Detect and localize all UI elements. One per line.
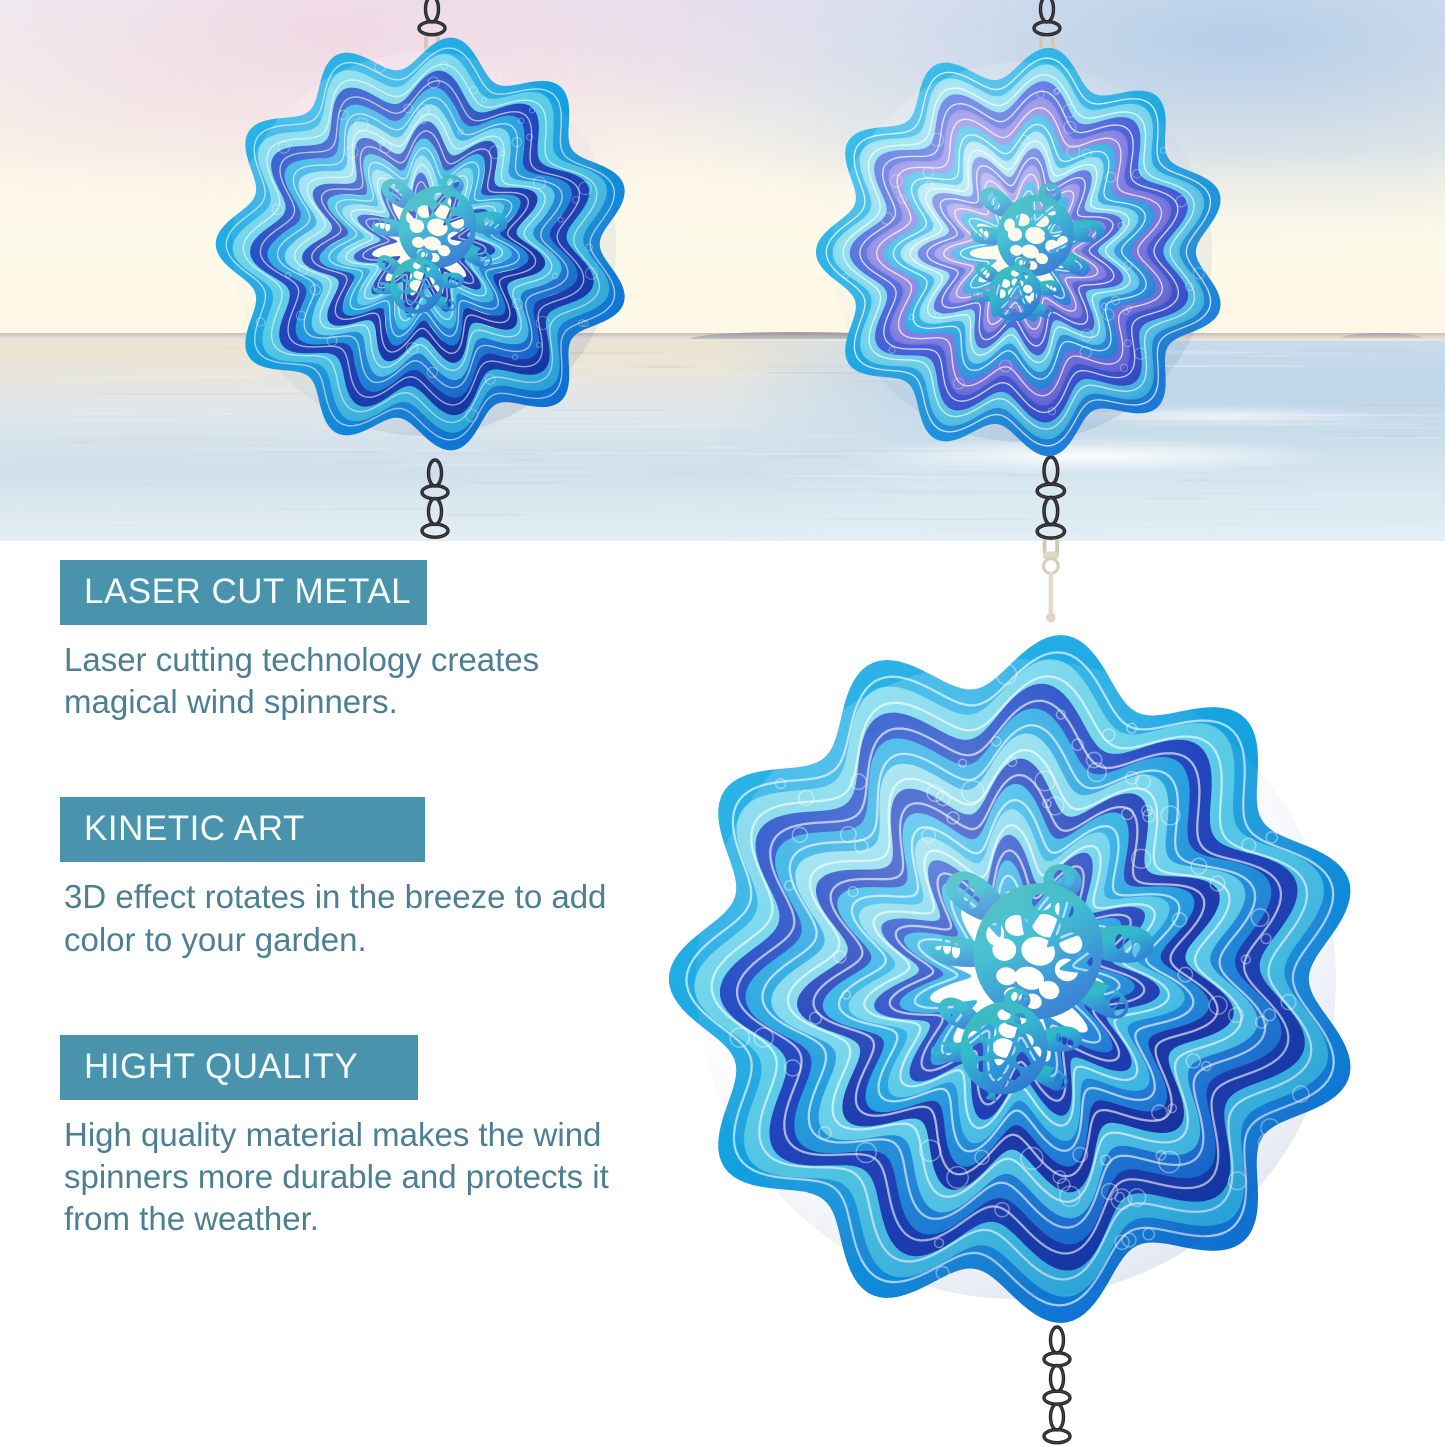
chain-links bbox=[1044, 1327, 1070, 1443]
feature-badge-laser-cut-metal: LASER CUT METAL bbox=[60, 560, 427, 625]
chain-middle-right bbox=[1033, 455, 1069, 618]
feature-body-laser-cut-metal: Laser cutting technology creates magical… bbox=[64, 639, 660, 723]
feature-badge-hight-quality: HIGHT QUALITY bbox=[60, 1035, 418, 1100]
hero-photo-band bbox=[0, 0, 1445, 541]
chain-bottom-main bbox=[1040, 1325, 1074, 1446]
distant-island-far bbox=[1342, 333, 1422, 338]
feature-item: HIGHT QUALITY High quality material make… bbox=[60, 1035, 660, 1241]
feature-item: KINETIC ART 3D effect rotates in the bre… bbox=[60, 797, 660, 960]
wind-spinner-spinning-right[interactable] bbox=[828, 58, 1216, 446]
feature-badge-kinetic-art: KINETIC ART bbox=[60, 797, 425, 862]
feature-body-hight-quality: High quality material makes the wind spi… bbox=[64, 1114, 660, 1241]
chain-bottom-left bbox=[418, 458, 452, 541]
chain-links bbox=[422, 460, 448, 537]
wind-spinner-static-left[interactable] bbox=[228, 48, 620, 440]
chain-links bbox=[1037, 457, 1064, 538]
feature-list: LASER CUT METAL Laser cutting technology… bbox=[0, 560, 660, 1285]
feature-body-kinetic-art: 3D effect rotates in the breeze to add c… bbox=[64, 876, 660, 960]
swivel-hook bbox=[1043, 540, 1059, 623]
chain-links bbox=[1034, 0, 1060, 35]
feature-item: LASER CUT METAL Laser cutting technology… bbox=[60, 560, 660, 723]
wind-spinner-large-detail[interactable] bbox=[692, 655, 1340, 1303]
chain-links bbox=[419, 0, 445, 35]
